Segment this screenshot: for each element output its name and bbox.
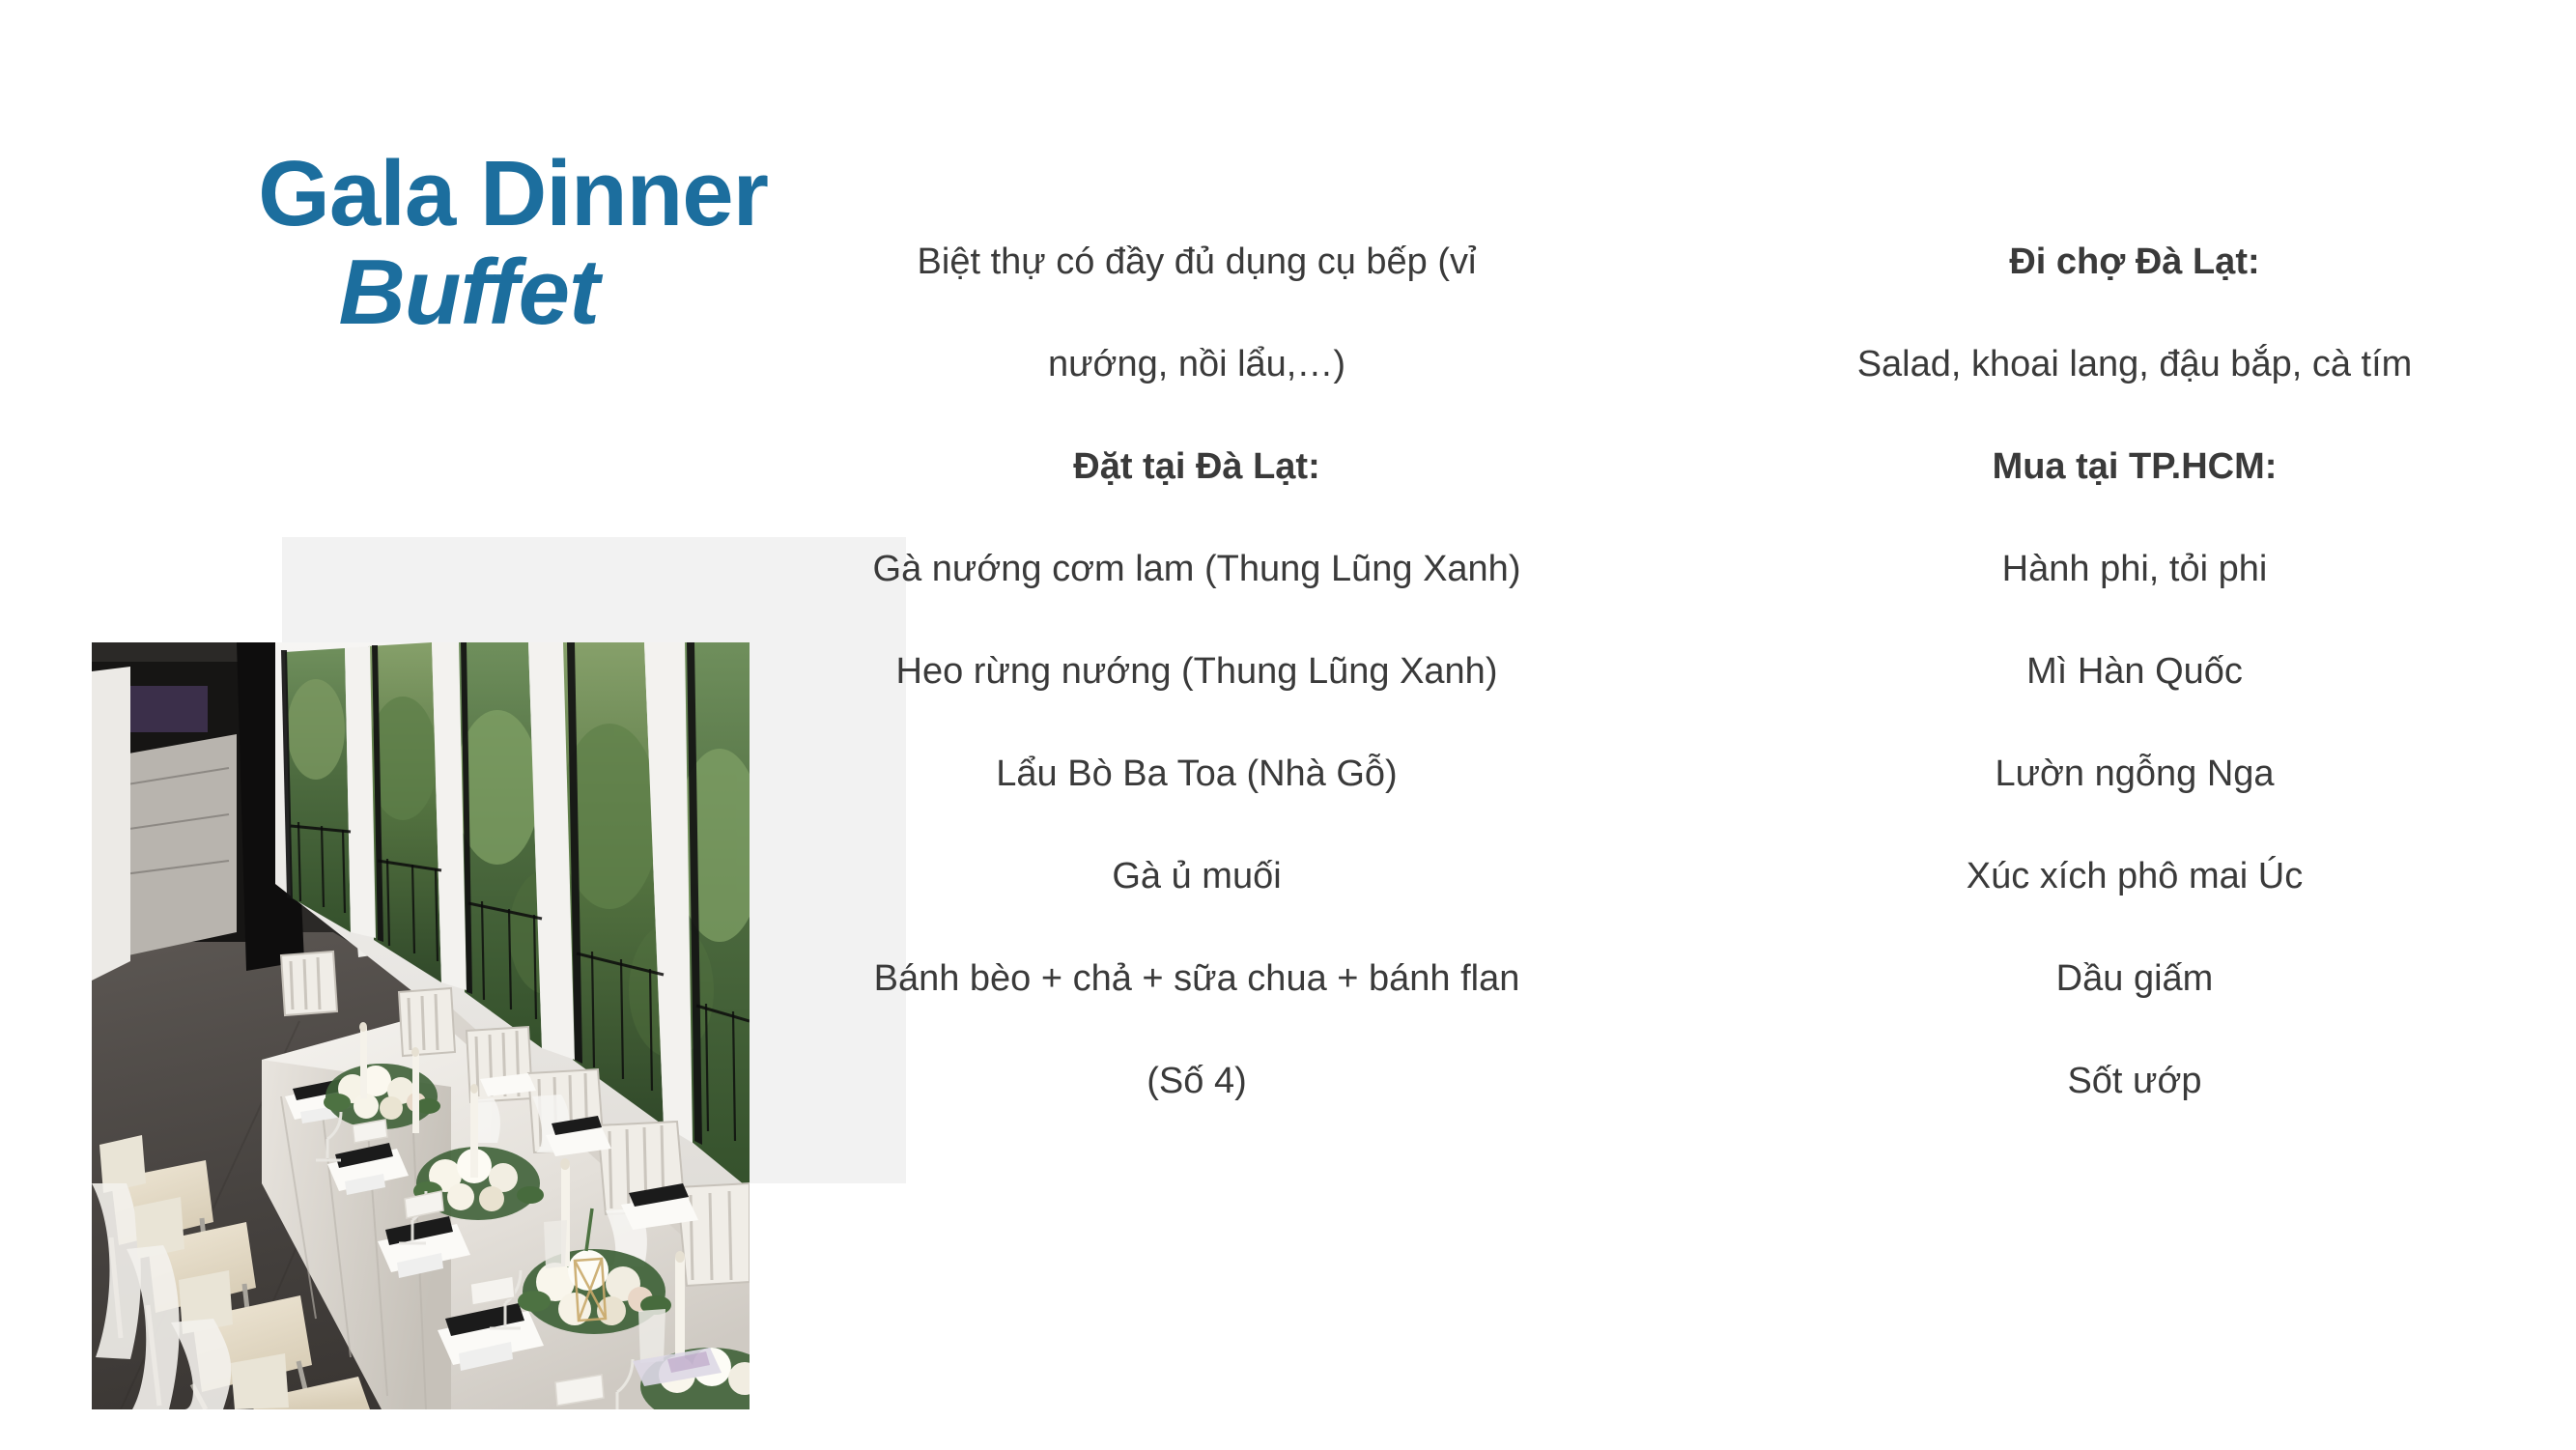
content-line: Bánh bèo + chả + sữa chua + bánh flan — [826, 927, 1568, 1030]
banquet-table-photo — [92, 642, 750, 1409]
content-heading: Mua tại TP.HCM: — [1768, 415, 2502, 518]
content-line: (Số 4) — [826, 1030, 1568, 1132]
content-column-middle: Biệt thự có đầy đủ dụng cụ bếp (vỉ nướng… — [826, 211, 1568, 1132]
content-line: Gà nướng cơm lam (Thung Lũng Xanh) — [826, 518, 1568, 620]
slide-canvas: Gala Dinner Buffet — [0, 0, 2576, 1450]
content-line: Gà ủ muối — [826, 825, 1568, 927]
title-line-primary: Gala Dinner — [92, 145, 768, 243]
content-line: Hành phi, tỏi phi — [1768, 518, 2502, 620]
content-column-right: Đi chợ Đà Lạt: Salad, khoai lang, đậu bắ… — [1768, 211, 2502, 1132]
content-line: nướng, nồi lẩu,…) — [826, 313, 1568, 415]
content-line: Biệt thự có đầy đủ dụng cụ bếp (vỉ — [826, 211, 1568, 313]
content-line: Lườn ngỗng Nga — [1768, 723, 2502, 825]
content-line: Heo rừng nướng (Thung Lũng Xanh) — [826, 620, 1568, 723]
content-line: Sốt ướp — [1768, 1030, 2502, 1132]
content-heading: Đi chợ Đà Lạt: — [1768, 211, 2502, 313]
content-line: Salad, khoai lang, đậu bắp, cà tím — [1768, 313, 2502, 415]
title-line-secondary: Buffet — [92, 243, 768, 342]
content-line: Mì Hàn Quốc — [1768, 620, 2502, 723]
page-title: Gala Dinner Buffet — [92, 145, 768, 342]
content-line: Lẩu Bò Ba Toa (Nhà Gỗ) — [826, 723, 1568, 825]
content-line: Dầu giấm — [1768, 927, 2502, 1030]
content-line: Xúc xích phô mai Úc — [1768, 825, 2502, 927]
content-heading: Đặt tại Đà Lạt: — [826, 415, 1568, 518]
